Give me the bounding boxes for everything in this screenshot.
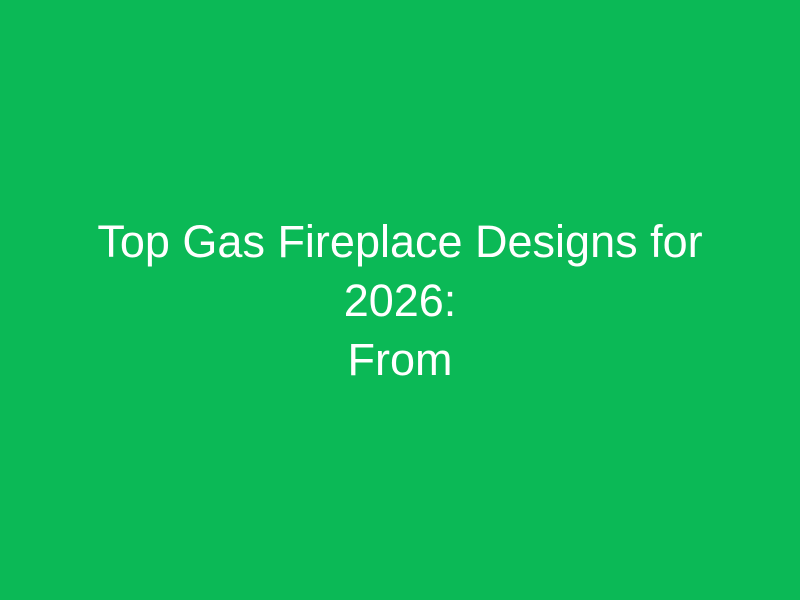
page-title: Top Gas Fireplace Designs for 2026: From [50, 212, 750, 389]
placeholder-card: Top Gas Fireplace Designs for 2026: From [0, 0, 800, 600]
